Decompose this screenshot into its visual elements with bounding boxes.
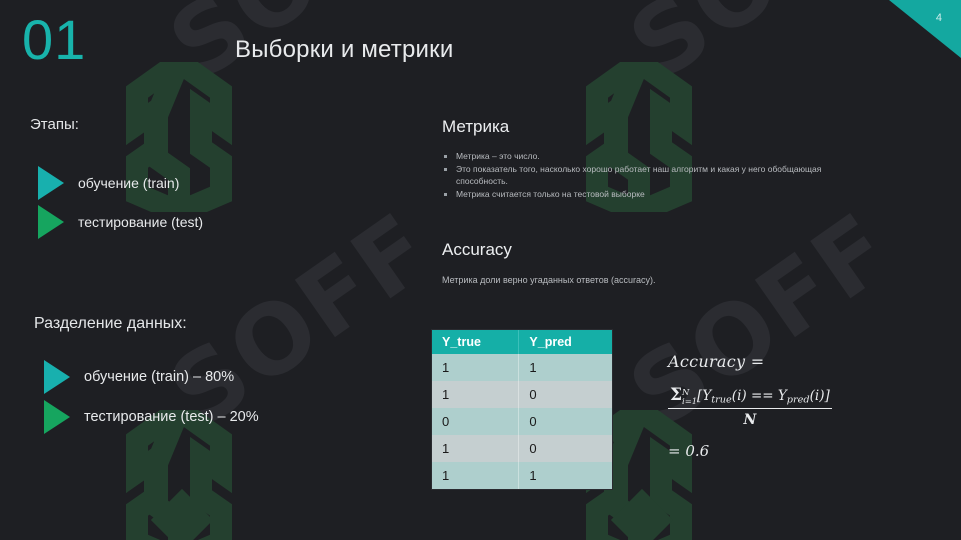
corner-accent-triangle: [889, 0, 961, 58]
cell-y-pred: 0: [519, 435, 612, 462]
cell-y-true: 0: [432, 408, 519, 435]
split-label: Разделение данных:: [34, 315, 187, 333]
term-y-pred: Y: [778, 388, 787, 404]
accuracy-description: Метрика доли верно угаданных ответов (ac…: [442, 275, 656, 285]
formula-denominator: N: [668, 409, 832, 428]
equality-operator: ==: [751, 388, 774, 404]
list-item-label: тестирование (test): [78, 214, 203, 230]
cell-y-true: 1: [432, 435, 519, 462]
formula-fraction: ΣNi=1[Ytrue(i) == Ypred(i)] N: [668, 385, 832, 428]
subscript-pred: pred: [787, 395, 810, 406]
table-row: 1 1: [432, 354, 612, 381]
subscript-true: true: [711, 395, 732, 406]
stages-label: Этапы:: [30, 116, 79, 133]
sigma-icon: Σ: [670, 385, 682, 405]
list-item: обучение (train): [38, 166, 179, 200]
table-header-row: Y_true Y_pred: [432, 330, 612, 354]
term-y-true: Y: [702, 388, 711, 404]
formula-label: Accuracy =: [668, 352, 832, 371]
arrow-bullet-icon: [44, 400, 70, 434]
metric-heading: Метрика: [442, 117, 509, 137]
table-row: 1 1: [432, 462, 612, 489]
cell-y-pred: 0: [519, 408, 612, 435]
sigma-lower-limit: i=1: [682, 397, 697, 405]
column-header-y-true: Y_true: [432, 330, 519, 354]
predictions-table: Y_true Y_pred 1 1 1 0 0 0 1: [432, 330, 612, 489]
arrow-bullet-icon: [38, 205, 64, 239]
cell-y-pred: 1: [519, 462, 612, 489]
list-item: Это показатель того, насколько хорошо ра…: [442, 163, 862, 187]
arrow-bullet-icon: [38, 166, 64, 200]
list-item-label: обучение (train) – 80%: [84, 369, 234, 385]
table-row: 1 0: [432, 435, 612, 462]
formula-result: = 0.6: [668, 442, 832, 460]
list-item-label: тестирование (test) – 20%: [84, 409, 259, 425]
cell-y-pred: 1: [519, 354, 612, 381]
sigma-limits: Ni=1: [682, 388, 697, 405]
page-title: Выборки и метрики: [235, 36, 453, 64]
slide: SOFF SOFF SOFF SOFF 4 0: [0, 0, 961, 540]
arg-pred: (i): [810, 388, 825, 404]
arg-true: (i): [732, 388, 747, 404]
list-item: тестирование (test): [38, 205, 203, 239]
slide-content: 01 Выборки и метрики Этапы: обучение (tr…: [0, 0, 961, 540]
cell-y-true: 1: [432, 381, 519, 408]
bracket-close: ]: [825, 388, 830, 404]
list-item: Метрика – это число.: [442, 150, 862, 162]
accuracy-heading: Accuracy: [442, 240, 512, 260]
cell-y-pred: 0: [519, 381, 612, 408]
formula-numerator: ΣNi=1[Ytrue(i) == Ypred(i)]: [668, 385, 832, 409]
metric-bullet-list: Метрика – это число. Это показатель того…: [442, 150, 862, 201]
page-number: 4: [936, 12, 942, 24]
list-item: обучение (train) – 80%: [44, 360, 234, 394]
cell-y-true: 1: [432, 354, 519, 381]
list-item: Метрика считается только на тестовой выб…: [442, 188, 862, 200]
list-item-label: обучение (train): [78, 175, 179, 191]
list-item: тестирование (test) – 20%: [44, 400, 259, 434]
table-row: 1 0: [432, 381, 612, 408]
table-row: 0 0: [432, 408, 612, 435]
column-header-y-pred: Y_pred: [519, 330, 612, 354]
section-number: 01: [22, 12, 86, 68]
cell-y-true: 1: [432, 462, 519, 489]
arrow-bullet-icon: [44, 360, 70, 394]
accuracy-formula: Accuracy = ΣNi=1[Ytrue(i) == Ypred(i)] N…: [668, 352, 832, 460]
